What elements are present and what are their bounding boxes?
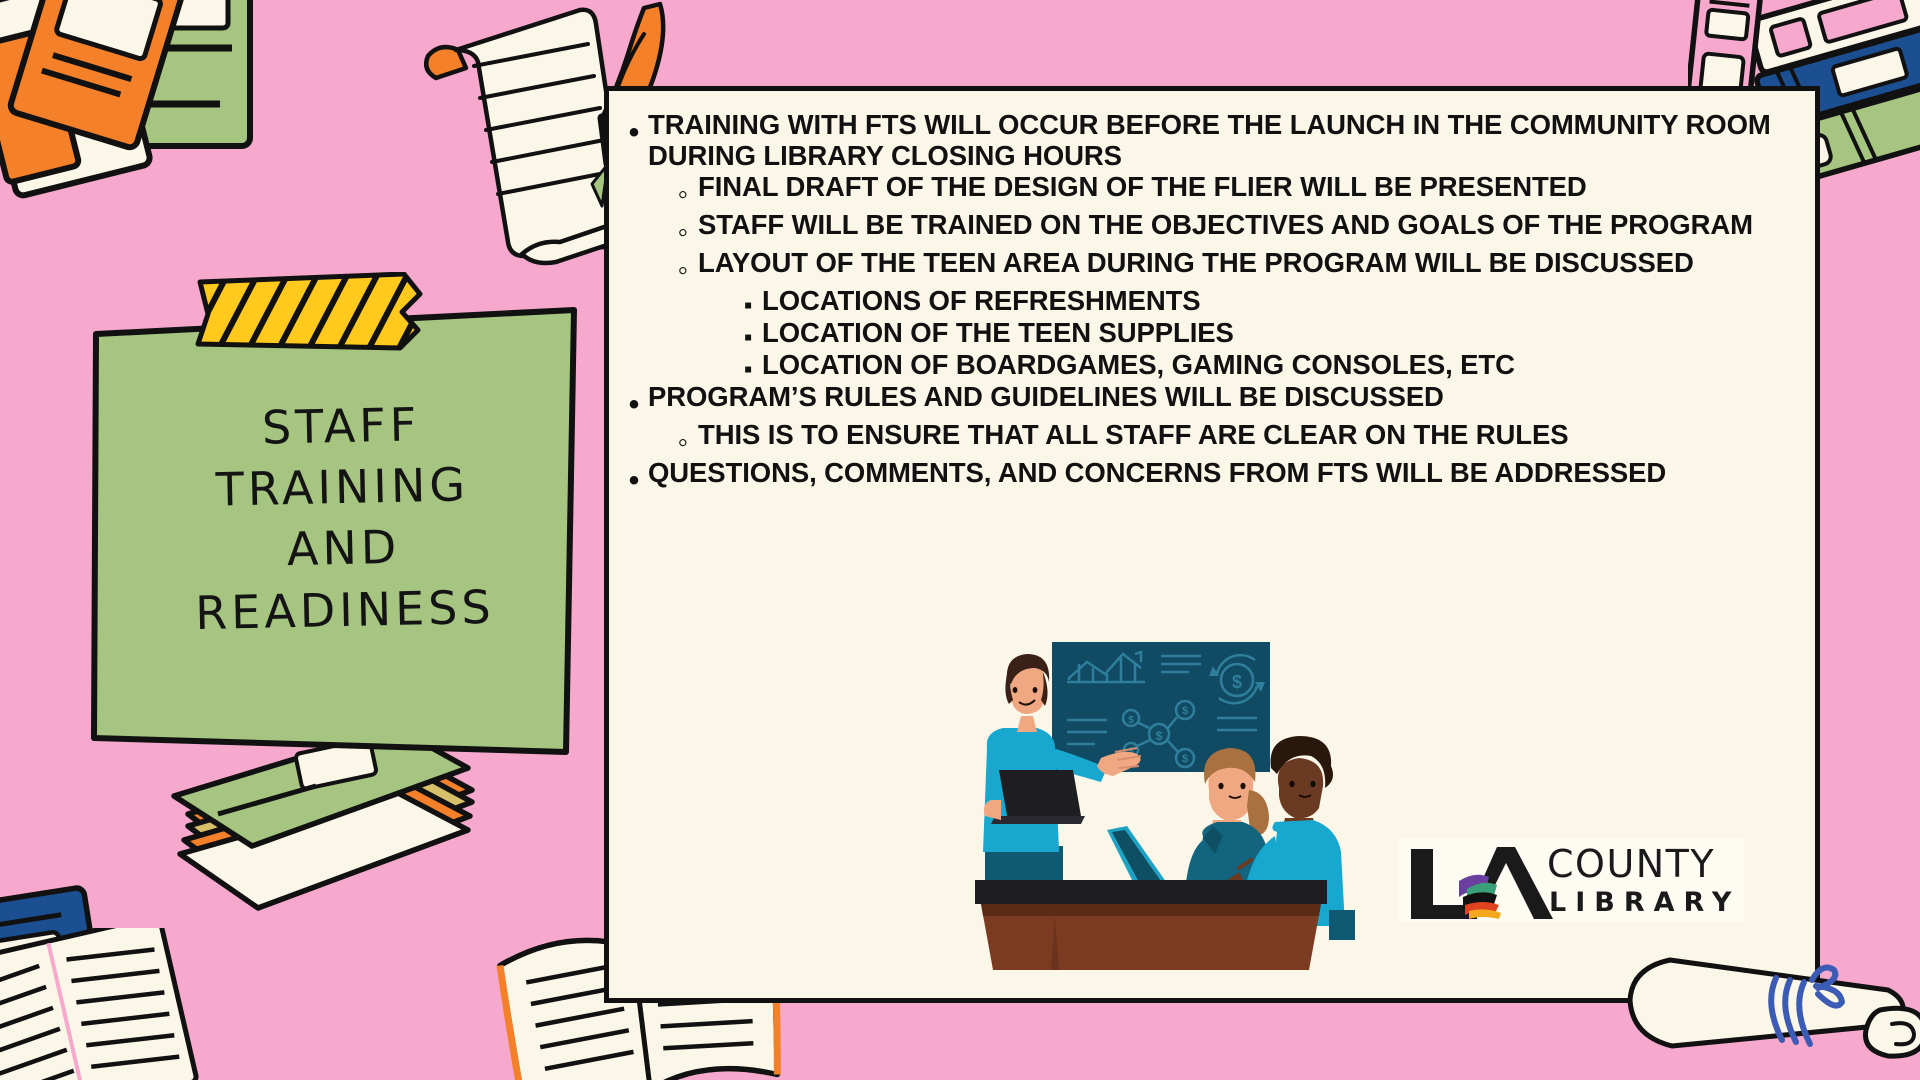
bullet-text: PROGRAM’S RULES AND GUIDELINES WILL BE D… <box>648 382 1444 413</box>
bullet-text: LAYOUT OF THE TEEN AREA DURING THE PROGR… <box>698 248 1694 279</box>
la-county-library-logo: COUNTY LIBRARY <box>1399 839 1744 921</box>
logo-county-text: COUNTY <box>1547 845 1740 883</box>
bullet-item: LOCATION OF BOARDGAMES, GAMING CONSOLES,… <box>734 350 1805 382</box>
title-card-text: STAFF TRAINING AND READINESS <box>85 391 600 646</box>
bullet-item: FINAL DRAFT OF THE DESIGN OF THE FLIER W… <box>668 172 1805 210</box>
svg-text:$: $ <box>1232 672 1242 692</box>
bullet-item: LOCATIONS OF REFRESHMENTS <box>734 286 1805 318</box>
svg-text:$: $ <box>1182 753 1188 765</box>
bullet-square-icon <box>734 318 762 350</box>
bullet-list: TRAINING WITH FTS WILL OCCUR BEFORE THE … <box>620 110 1805 496</box>
svg-text:$: $ <box>1182 705 1188 717</box>
desk-icon <box>975 880 1327 970</box>
bullet-text: TRAINING WITH FTS WILL OCCUR BEFORE THE … <box>648 110 1805 172</box>
bullet-hollow-icon <box>668 248 698 286</box>
bullet-item: QUESTIONS, COMMENTS, AND CONCERNS FROM F… <box>620 458 1805 496</box>
bullet-item: TRAINING WITH FTS WILL OCCUR BEFORE THE … <box>620 110 1805 172</box>
bullet-item: LAYOUT OF THE TEEN AREA DURING THE PROGR… <box>668 248 1805 286</box>
bullet-text: QUESTIONS, COMMENTS, AND CONCERNS FROM F… <box>648 458 1666 489</box>
bullet-text: THIS IS TO ENSURE THAT ALL STAFF ARE CLE… <box>698 420 1568 451</box>
bullet-hollow-icon <box>668 210 698 248</box>
svg-text:$: $ <box>1128 715 1134 726</box>
logo-wordmark: COUNTY LIBRARY <box>1547 845 1740 916</box>
bullet-square-icon <box>734 286 762 318</box>
bullet-item: STAFF WILL BE TRAINED ON THE OBJECTIVES … <box>668 210 1805 248</box>
decor-top-left-books <box>0 0 290 210</box>
title-card: STAFF TRAINING AND READINESS <box>88 300 598 800</box>
logo-library-text: LIBRARY <box>1549 889 1740 916</box>
decor-blue-closed-book <box>0 880 180 1080</box>
bullet-square-icon <box>734 350 762 382</box>
bullet-text: LOCATION OF BOARDGAMES, GAMING CONSOLES,… <box>762 350 1515 381</box>
team-training-illustration: $ $ $ $ $ $ <box>955 640 1355 970</box>
bullet-filled-icon <box>620 382 648 420</box>
bullet-hollow-icon <box>668 172 698 210</box>
la-monogram-icon <box>1411 847 1553 919</box>
bullet-text: LOCATION OF THE TEEN SUPPLIES <box>762 318 1234 349</box>
bullet-item: THIS IS TO ENSURE THAT ALL STAFF ARE CLE… <box>668 420 1805 458</box>
bullet-hollow-icon <box>668 420 698 458</box>
decor-open-book-bottom-left <box>0 928 210 1080</box>
bullet-text: FINAL DRAFT OF THE DESIGN OF THE FLIER W… <box>698 172 1587 203</box>
bullet-item: PROGRAM’S RULES AND GUIDELINES WILL BE D… <box>620 382 1805 420</box>
bullet-item: LOCATION OF THE TEEN SUPPLIES <box>734 318 1805 350</box>
svg-text:$: $ <box>1156 729 1163 743</box>
bullet-filled-icon <box>620 110 648 148</box>
bullet-text: STAFF WILL BE TRAINED ON THE OBJECTIVES … <box>698 210 1753 241</box>
bullet-text: LOCATIONS OF REFRESHMENTS <box>762 286 1201 317</box>
bullet-filled-icon <box>620 458 648 496</box>
